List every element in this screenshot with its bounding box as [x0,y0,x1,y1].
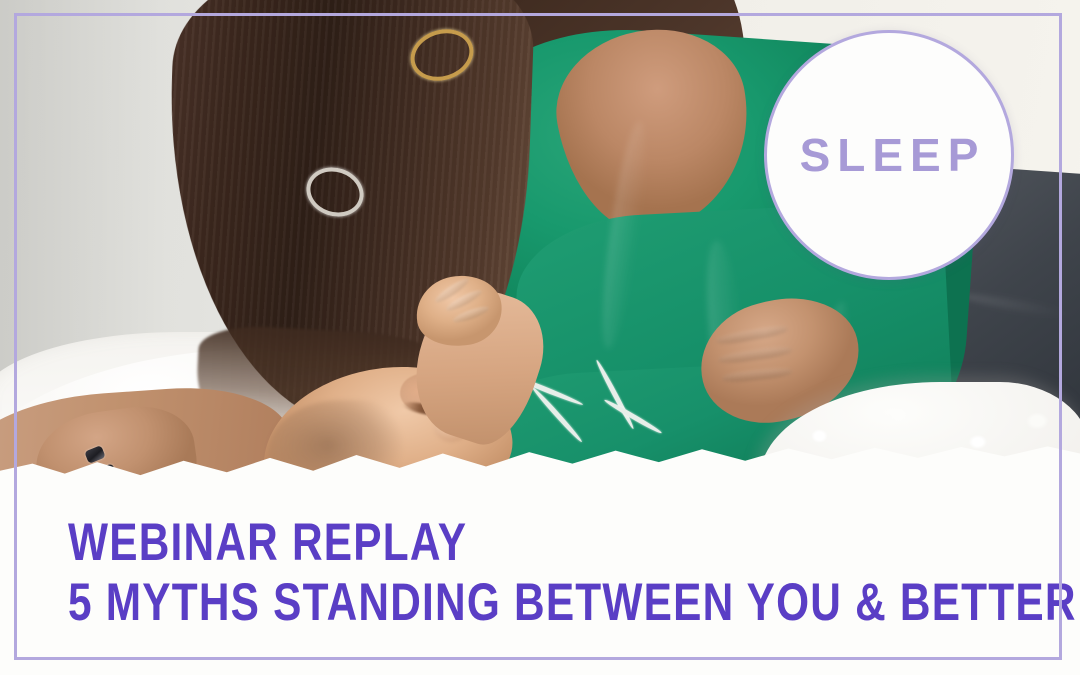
caption-text-group: WEBINAR REPLAY 5 MYTHS STANDING BETWEEN … [68,514,1080,634]
sleep-badge[interactable]: SLEEP [764,30,1014,280]
sleep-badge-label: SLEEP [793,128,986,182]
caption-band: WEBINAR REPLAY 5 MYTHS STANDING BETWEEN … [0,500,1080,675]
caption-line-2: 5 MYTHS STANDING BETWEEN YOU & BETTER SL… [68,572,1080,634]
promo-card: SLEEP WEBINAR REPLAY 5 MYTHS STANDING BE… [0,0,1080,675]
caption-line-1: WEBINAR REPLAY [68,514,1080,572]
